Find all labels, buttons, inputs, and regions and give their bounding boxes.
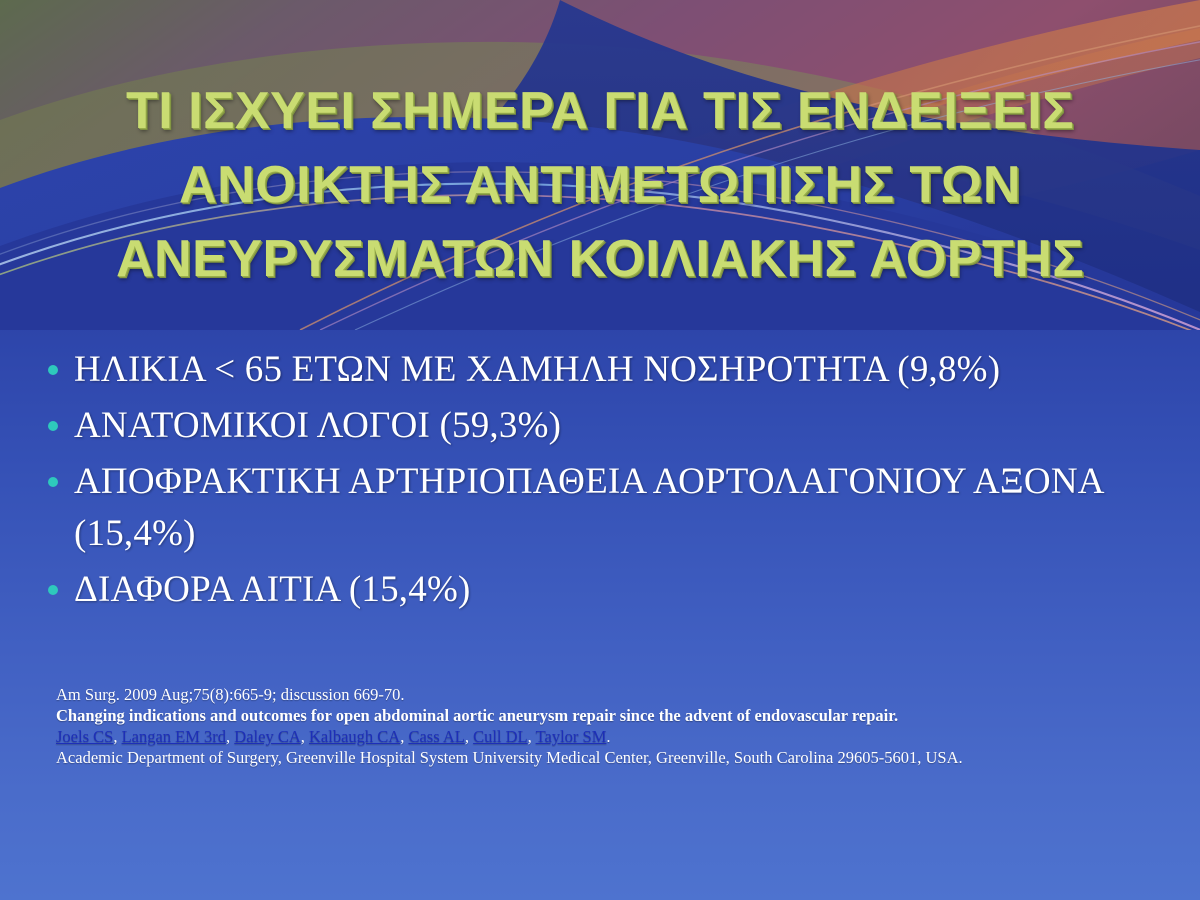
author-link[interactable]: Joels CS	[56, 727, 113, 746]
author-link[interactable]: Langan EM 3rd	[122, 727, 226, 746]
author-link[interactable]: Cass AL	[408, 727, 464, 746]
list-item: ΗΛΙΚΙΑ < 65 ΕΤΩΝ ΜΕ ΧΑΜΗΛΗ ΝΟΣΗΡΟΤΗΤΑ (9…	[48, 344, 1158, 396]
list-item-label: ΑΝΑΤΟΜΙΚΟΙ ΛΟΓΟΙ (59,3%)	[74, 400, 1158, 452]
bullet-list: ΗΛΙΚΙΑ < 65 ΕΤΩΝ ΜΕ ΧΑΜΗΛΗ ΝΟΣΗΡΟΤΗΤΑ (9…	[48, 344, 1158, 620]
bullet-dot-icon	[48, 365, 58, 375]
author-link[interactable]: Taylor SM	[536, 727, 607, 746]
author-link[interactable]: Daley CA	[234, 727, 300, 746]
list-item: ΑΝΑΤΟΜΙΚΟΙ ΛΟΓΟΙ (59,3%)	[48, 400, 1158, 452]
title-line-3: ΑΝΕΥΡΥΣΜΑΤΩΝ ΚΟΙΛΙΑΚΗΣ ΑΟΡΤΗΣ	[0, 222, 1200, 296]
bullet-dot-icon	[48, 585, 58, 595]
bullet-dot-icon	[48, 477, 58, 487]
author-separator: ,	[113, 727, 121, 746]
list-item-label: ΗΛΙΚΙΑ < 65 ΕΤΩΝ ΜΕ ΧΑΜΗΛΗ ΝΟΣΗΡΟΤΗΤΑ (9…	[74, 344, 1158, 396]
citation-authors: Joels CS, Langan EM 3rd, Daley CA, Kalba…	[56, 726, 1176, 747]
author-separator: ,	[528, 727, 536, 746]
title-line-2: ΑΝΟΙΚΤΗΣ ΑΝΤΙΜΕΤΩΠΙΣΗΣ ΤΩΝ	[0, 148, 1200, 222]
author-link[interactable]: Cull DL	[473, 727, 528, 746]
list-item: ΔΙΑΦΟΡΑ ΑΙΤΙΑ (15,4%)	[48, 564, 1158, 616]
slide: ΤΙ ΙΣΧΥΕΙ ΣΗΜΕΡΑ ΓΙΑ ΤΙΣ ΕΝΔΕΙΞΕΙΣ ΑΝΟΙΚ…	[0, 0, 1200, 900]
title-line-1: ΤΙ ΙΣΧΥΕΙ ΣΗΜΕΡΑ ΓΙΑ ΤΙΣ ΕΝΔΕΙΞΕΙΣ	[0, 74, 1200, 148]
author-separator: ,	[301, 727, 309, 746]
citation-block: Am Surg. 2009 Aug;75(8):665-9; discussio…	[56, 684, 1176, 768]
author-link[interactable]: Kalbaugh CA	[309, 727, 400, 746]
author-terminator: .	[606, 727, 610, 746]
citation-journal: Am Surg. 2009 Aug;75(8):665-9; discussio…	[56, 684, 1176, 705]
citation-affiliation: Academic Department of Surgery, Greenvil…	[56, 747, 1176, 768]
page-title: ΤΙ ΙΣΧΥΕΙ ΣΗΜΕΡΑ ΓΙΑ ΤΙΣ ΕΝΔΕΙΞΕΙΣ ΑΝΟΙΚ…	[0, 74, 1200, 296]
author-separator: ,	[465, 727, 473, 746]
list-item: ΑΠΟΦΡΑΚΤΙΚΗ ΑΡΤΗΡΙΟΠΑΘΕΙΑ ΑΟΡΤΟΛΑΓΟΝΙΟΥ …	[48, 456, 1158, 560]
list-item-label: ΔΙΑΦΟΡΑ ΑΙΤΙΑ (15,4%)	[74, 564, 1158, 616]
list-item-label: ΑΠΟΦΡΑΚΤΙΚΗ ΑΡΤΗΡΙΟΠΑΘΕΙΑ ΑΟΡΤΟΛΑΓΟΝΙΟΥ …	[74, 456, 1158, 560]
citation-paper-title: Changing indications and outcomes for op…	[56, 705, 1176, 726]
bullet-dot-icon	[48, 421, 58, 431]
